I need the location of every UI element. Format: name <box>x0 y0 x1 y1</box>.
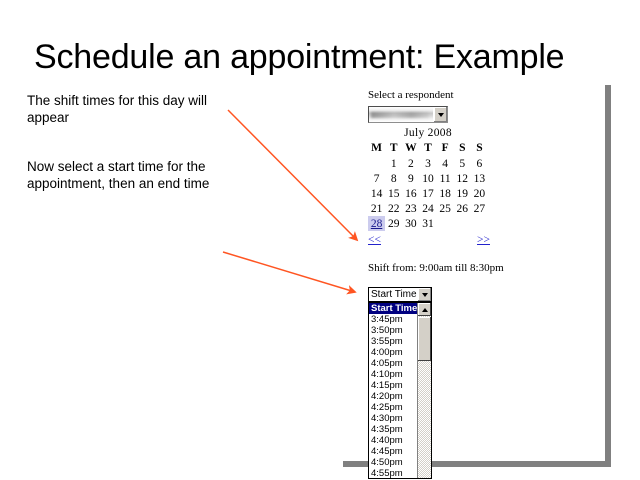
time-option[interactable]: 4:40pm <box>369 435 417 446</box>
calendar-day[interactable]: 31 <box>419 216 436 231</box>
calendar-day[interactable]: 4 <box>437 156 454 171</box>
calendar-day[interactable]: 5 <box>454 156 471 171</box>
calendar-week-row: 21222324252627 <box>368 201 488 216</box>
scrollbar-thumb[interactable] <box>418 317 431 361</box>
annotation-shift-times: The shift times for this day will appear <box>27 92 242 126</box>
calendar-weekday: S <box>471 141 488 156</box>
calendar-day[interactable]: 13 <box>471 171 488 186</box>
time-option[interactable]: 4:20pm <box>369 391 417 402</box>
calendar-day[interactable]: 16 <box>402 186 419 201</box>
time-option[interactable]: 4:55pm <box>369 468 417 478</box>
scheduling-form-panel: Select a respondent July 2008 M T W T F … <box>337 79 605 461</box>
calendar-day[interactable]: 22 <box>385 201 402 216</box>
calendar-grid: M T W T F S S 12345678910111213141516171… <box>368 141 488 231</box>
page-title: Schedule an appointment: Example <box>34 38 614 77</box>
calendar-navigation: << >> <box>368 234 490 246</box>
calendar-widget: July 2008 M T W T F S S 1234567891011121… <box>368 127 488 231</box>
time-option[interactable]: 4:05pm <box>369 358 417 369</box>
chevron-down-icon[interactable] <box>417 288 431 301</box>
calendar-day[interactable]: 27 <box>471 201 488 216</box>
calendar-weekday: S <box>454 141 471 156</box>
time-option[interactable]: 3:55pm <box>369 336 417 347</box>
calendar-day[interactable]: 20 <box>471 186 488 201</box>
calendar-day[interactable]: 8 <box>385 171 402 186</box>
calendar-day[interactable]: 26 <box>454 201 471 216</box>
calendar-day-empty <box>454 216 471 231</box>
respondent-label: Select a respondent <box>368 89 454 101</box>
start-time-combo-value: Start Time <box>369 288 417 301</box>
time-option[interactable]: 4:35pm <box>369 424 417 435</box>
time-option-selected[interactable]: Start Time <box>369 303 417 314</box>
calendar-day[interactable]: 6 <box>471 156 488 171</box>
arrow-to-start-time <box>223 252 355 292</box>
start-time-options[interactable]: Start Time3:45pm3:50pm3:55pm4:00pm4:05pm… <box>369 303 417 478</box>
time-option[interactable]: 4:00pm <box>369 347 417 358</box>
time-option[interactable]: 4:50pm <box>369 457 417 468</box>
start-time-combo[interactable]: Start Time <box>368 287 432 302</box>
calendar-month-label: July 2008 <box>368 127 488 141</box>
calendar-day[interactable]: 19 <box>454 186 471 201</box>
calendar-week-row: 14151617181920 <box>368 186 488 201</box>
shift-range-text: Shift from: 9:00am till 8:30pm <box>368 262 504 274</box>
time-option[interactable]: 4:45pm <box>369 446 417 457</box>
calendar-day[interactable]: 7 <box>368 171 385 186</box>
calendar-next-link[interactable]: >> <box>477 234 490 246</box>
calendar-day[interactable]: 18 <box>437 186 454 201</box>
calendar-day[interactable]: 15 <box>385 186 402 201</box>
time-option[interactable]: 4:30pm <box>369 413 417 424</box>
start-time-option-list[interactable]: Start Time3:45pm3:50pm3:55pm4:00pm4:05pm… <box>368 302 432 479</box>
calendar-day-empty <box>471 216 488 231</box>
chevron-up-icon[interactable] <box>418 303 431 316</box>
calendar-day[interactable]: 24 <box>419 201 436 216</box>
calendar-day[interactable]: 11 <box>437 171 454 186</box>
start-time-scrollbar[interactable] <box>417 303 431 478</box>
calendar-day-empty <box>368 156 385 171</box>
calendar-day[interactable]: 12 <box>454 171 471 186</box>
calendar-day[interactable]: 3 <box>419 156 436 171</box>
time-option[interactable]: 3:50pm <box>369 325 417 336</box>
respondent-selected-value <box>369 107 433 122</box>
calendar-day[interactable]: 14 <box>368 186 385 201</box>
calendar-weekday: F <box>437 141 454 156</box>
slide-canvas: Schedule an appointment: Example The shi… <box>0 0 640 480</box>
time-option[interactable]: 4:25pm <box>369 402 417 413</box>
time-option[interactable]: 3:45pm <box>369 314 417 325</box>
calendar-day[interactable]: 2 <box>402 156 419 171</box>
calendar-week-row: 28293031 <box>368 216 488 231</box>
calendar-weekday: M <box>368 141 385 156</box>
calendar-day[interactable]: 21 <box>368 201 385 216</box>
calendar-week-row: 78910111213 <box>368 171 488 186</box>
calendar-day[interactable]: 29 <box>385 216 402 231</box>
time-option[interactable]: 4:15pm <box>369 380 417 391</box>
annotation-select-start-time: Now select a start time for the appointm… <box>27 158 242 192</box>
calendar-prev-link[interactable]: << <box>368 234 381 246</box>
calendar-day[interactable]: 17 <box>419 186 436 201</box>
calendar-day[interactable]: 23 <box>402 201 419 216</box>
calendar-weekday: T <box>419 141 436 156</box>
time-option[interactable]: 4:10pm <box>369 369 417 380</box>
calendar-day[interactable]: 1 <box>385 156 402 171</box>
calendar-day-empty <box>437 216 454 231</box>
calendar-week-row: 123456 <box>368 156 488 171</box>
calendar-day[interactable]: 10 <box>419 171 436 186</box>
calendar-day[interactable]: 30 <box>402 216 419 231</box>
calendar-body: 1234567891011121314151617181920212223242… <box>368 156 488 231</box>
calendar-day[interactable]: 9 <box>402 171 419 186</box>
calendar-weekday: W <box>402 141 419 156</box>
respondent-select[interactable] <box>368 106 448 123</box>
calendar-weekday: T <box>385 141 402 156</box>
chevron-down-icon[interactable] <box>433 107 447 122</box>
calendar-header-row: M T W T F S S <box>368 141 488 156</box>
calendar-day[interactable]: 25 <box>437 201 454 216</box>
calendar-day-selected[interactable]: 28 <box>368 216 385 231</box>
